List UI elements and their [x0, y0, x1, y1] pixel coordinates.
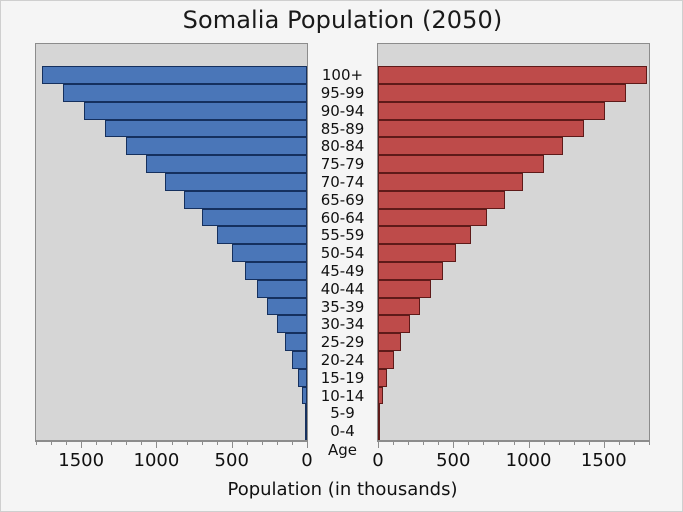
axis-tick — [408, 441, 409, 445]
axis-tick — [574, 441, 575, 445]
age-label-column: 0-45-910-1415-1920-2425-2930-3435-3940-4… — [308, 43, 377, 441]
bar-male-55-59[interactable] — [245, 262, 307, 280]
axis-tick — [529, 441, 530, 448]
bar-female-20-24[interactable] — [378, 137, 563, 155]
age-label-100+: 100+ — [322, 67, 363, 85]
male-x-axis — [35, 441, 308, 450]
bar-male-65-69[interactable] — [267, 298, 307, 316]
bar-row — [378, 262, 649, 280]
bar-row — [36, 137, 307, 155]
axis-tick — [156, 441, 157, 448]
bar-row — [36, 209, 307, 227]
age-label-55-59: 55-59 — [321, 227, 365, 245]
bar-row — [36, 191, 307, 209]
x-axis-title: Population (in thousands) — [1, 479, 683, 500]
age-label-10-14: 10-14 — [321, 388, 365, 406]
female-x-axis — [377, 441, 650, 450]
axis-tick — [66, 441, 67, 445]
male-tick-labels: 150010005000 — [35, 450, 308, 472]
age-label-25-29: 25-29 — [321, 334, 365, 352]
bar-row — [36, 387, 307, 405]
bar-row — [378, 173, 649, 191]
bar-row — [378, 66, 649, 84]
bar-female-0-4[interactable] — [378, 66, 647, 84]
tick-label-0: 0 — [301, 450, 312, 471]
bar-row — [378, 351, 649, 369]
axis-tick — [604, 441, 605, 448]
bar-female-55-59[interactable] — [378, 262, 443, 280]
age-label-90-94: 90-94 — [321, 103, 365, 121]
bar-male-25-29[interactable] — [146, 155, 307, 173]
bar-row — [36, 84, 307, 102]
age-label-20-24: 20-24 — [321, 352, 365, 370]
bar-row — [378, 404, 649, 422]
age-label-40-44: 40-44 — [321, 281, 365, 299]
bar-male-0-4[interactable] — [42, 66, 307, 84]
bar-row — [36, 333, 307, 351]
bar-row — [36, 422, 307, 440]
axis-tick — [378, 441, 379, 448]
bar-row — [378, 120, 649, 138]
bar-row — [36, 262, 307, 280]
axis-tick — [126, 441, 127, 445]
tick-label-1500: 1500 — [58, 450, 104, 471]
bar-female-90-94[interactable] — [378, 387, 383, 405]
axis-tick — [559, 441, 560, 445]
axis-tick — [111, 441, 112, 445]
bar-male-70-74[interactable] — [277, 315, 307, 333]
axis-tick — [187, 441, 188, 445]
bar-female-65-69[interactable] — [378, 298, 420, 316]
axis-tick — [453, 441, 454, 448]
bar-male-45-49[interactable] — [217, 226, 307, 244]
age-label-50-54: 50-54 — [321, 245, 365, 263]
bar-female-5-9[interactable] — [378, 84, 626, 102]
bar-male-85-89[interactable] — [298, 369, 307, 387]
axis-tick — [51, 441, 52, 445]
axis-tick — [649, 441, 650, 445]
bar-row — [36, 280, 307, 298]
age-label-45-49: 45-49 — [321, 263, 365, 281]
axis-tick — [483, 441, 484, 445]
axis-tick — [514, 441, 515, 445]
axis-tick — [217, 441, 218, 445]
axis-tick — [393, 441, 394, 445]
axis-tick — [544, 441, 545, 445]
bar-row — [378, 298, 649, 316]
bar-female-40-44[interactable] — [378, 209, 487, 227]
bar-male-100+[interactable] — [305, 422, 307, 440]
axis-tick — [307, 441, 308, 448]
bar-row — [378, 422, 649, 440]
bar-row — [36, 120, 307, 138]
bar-female-75-79[interactable] — [378, 333, 401, 351]
bar-row — [36, 404, 307, 422]
bar-female-85-89[interactable] — [378, 369, 387, 387]
age-label-70-74: 70-74 — [321, 174, 365, 192]
age-label-5-9: 5-9 — [330, 405, 355, 423]
bar-row — [36, 369, 307, 387]
male-bars-group — [36, 44, 307, 440]
tick-label-500: 500 — [436, 450, 470, 471]
age-label-0-4: 0-4 — [330, 423, 355, 441]
bar-row — [378, 84, 649, 102]
bar-row — [36, 155, 307, 173]
bar-female-25-29[interactable] — [378, 155, 544, 173]
bar-male-80-84[interactable] — [292, 351, 307, 369]
bar-male-95-99[interactable] — [305, 404, 307, 422]
bar-female-15-19[interactable] — [378, 120, 584, 138]
bar-row — [36, 315, 307, 333]
tick-label-1000: 1000 — [506, 450, 552, 471]
age-label-85-89: 85-89 — [321, 121, 365, 139]
tick-label-1500: 1500 — [581, 450, 627, 471]
bar-row — [378, 155, 649, 173]
age-label-80-84: 80-84 — [321, 138, 365, 156]
axis-tick — [262, 441, 263, 445]
bar-female-60-64[interactable] — [378, 280, 431, 298]
male-plot-panel: Male — [35, 43, 308, 441]
bar-female-50-54[interactable] — [378, 244, 456, 262]
bar-row — [378, 333, 649, 351]
axis-tick — [172, 441, 173, 445]
bar-row — [378, 226, 649, 244]
age-label-75-79: 75-79 — [321, 156, 365, 174]
age-label-95-99: 95-99 — [321, 85, 365, 103]
chart-title: Somalia Population (2050) — [1, 6, 683, 34]
bar-male-20-24[interactable] — [126, 137, 307, 155]
axis-tick — [96, 441, 97, 445]
bar-male-90-94[interactable] — [302, 387, 307, 405]
bar-male-35-39[interactable] — [184, 191, 307, 209]
bar-male-60-64[interactable] — [257, 280, 307, 298]
bar-row — [378, 137, 649, 155]
bar-male-5-9[interactable] — [63, 84, 307, 102]
axis-tick — [589, 441, 590, 445]
bar-male-30-34[interactable] — [165, 173, 307, 191]
female-bars-group — [378, 44, 649, 440]
bar-male-40-44[interactable] — [202, 209, 307, 227]
age-axis-title: Age — [308, 441, 377, 459]
bar-female-70-74[interactable] — [378, 315, 410, 333]
bar-row — [378, 209, 649, 227]
bar-female-45-49[interactable] — [378, 226, 471, 244]
axis-tick — [277, 441, 278, 445]
axis-tick — [232, 441, 233, 448]
bar-female-35-39[interactable] — [378, 191, 505, 209]
axis-tick — [423, 441, 424, 445]
axis-tick — [634, 441, 635, 445]
population-pyramid-figure: Somalia Population (2050) Male 0-45-910-… — [0, 0, 683, 512]
bar-row — [36, 298, 307, 316]
female-tick-labels: 050010001500 — [377, 450, 650, 472]
tick-label-1000: 1000 — [134, 450, 180, 471]
bar-row — [36, 173, 307, 191]
bar-row — [36, 102, 307, 120]
axis-tick — [247, 441, 248, 445]
age-label-60-64: 60-64 — [321, 210, 365, 228]
bar-row — [378, 191, 649, 209]
age-label-35-39: 35-39 — [321, 299, 365, 317]
age-label-15-19: 15-19 — [321, 370, 365, 388]
axis-tick — [498, 441, 499, 445]
tick-label-500: 500 — [215, 450, 249, 471]
bar-male-50-54[interactable] — [232, 244, 307, 262]
axis-tick — [619, 441, 620, 445]
axis-tick — [202, 441, 203, 445]
axis-tick — [468, 441, 469, 445]
axis-tick — [36, 441, 37, 445]
bar-female-30-34[interactable] — [378, 173, 523, 191]
bar-row — [378, 369, 649, 387]
axis-tick — [292, 441, 293, 445]
bar-row — [378, 102, 649, 120]
bar-male-10-14[interactable] — [84, 102, 307, 120]
bar-row — [36, 351, 307, 369]
bar-female-10-14[interactable] — [378, 102, 605, 120]
axis-tick — [81, 441, 82, 448]
bar-row — [36, 226, 307, 244]
bar-row — [36, 66, 307, 84]
axis-tick — [141, 441, 142, 445]
age-label-30-34: 30-34 — [321, 316, 365, 334]
bar-male-75-79[interactable] — [285, 333, 307, 351]
bar-row — [378, 315, 649, 333]
tick-label-0: 0 — [372, 450, 383, 471]
bar-female-95-99[interactable] — [378, 404, 380, 422]
bar-row — [378, 280, 649, 298]
bar-female-100+[interactable] — [378, 422, 380, 440]
bar-row — [378, 244, 649, 262]
bar-row — [378, 387, 649, 405]
bar-female-80-84[interactable] — [378, 351, 394, 369]
bar-male-15-19[interactable] — [105, 120, 307, 138]
axis-tick — [438, 441, 439, 445]
female-plot-panel: Female — [377, 43, 650, 441]
bar-row — [36, 244, 307, 262]
age-label-65-69: 65-69 — [321, 192, 365, 210]
